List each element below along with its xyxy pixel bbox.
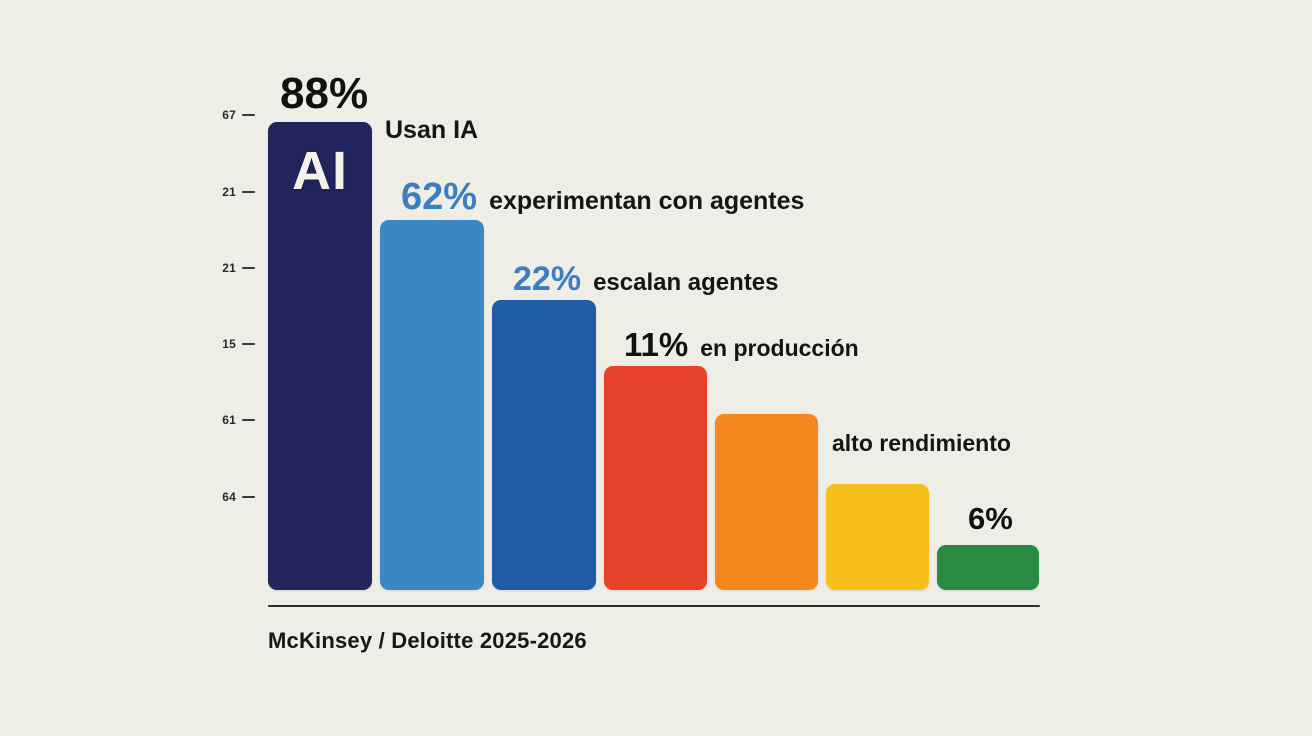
callout-percent: 11%: [624, 328, 688, 361]
callout-percent: 6%: [968, 503, 1013, 534]
y-axis-tick-dash: [242, 114, 255, 116]
callout-usan-ia: 88%: [280, 72, 368, 116]
y-axis-tick-label: 21: [222, 262, 236, 274]
bar-6[interactable]: [826, 484, 929, 590]
y-axis-tick-dash: [242, 191, 255, 193]
callout-description: escalan agentes: [593, 271, 778, 295]
bar-4[interactable]: [604, 366, 707, 590]
y-axis-tick: 21: [205, 261, 255, 275]
y-axis-tick-label: 21: [222, 186, 236, 198]
callout-percent: 22%: [513, 262, 581, 296]
callout-produccion: 11%en producción: [624, 328, 859, 361]
callout-description: experimentan con agentes: [489, 189, 804, 214]
y-axis-tick-label: 15: [222, 338, 236, 350]
callout-usan-ia-desc: Usan IA: [385, 118, 478, 143]
y-axis-tick-dash: [242, 267, 255, 269]
bar-3[interactable]: [492, 300, 596, 590]
bar-7[interactable]: [937, 545, 1039, 590]
callout-description: Usan IA: [385, 118, 478, 143]
bar-2[interactable]: [380, 220, 484, 590]
callout-description: en producción: [700, 337, 858, 360]
chart-canvas: 672121156164 AI 88%Usan IA62%experimenta…: [0, 0, 1312, 736]
y-axis-tick-dash: [242, 419, 255, 421]
y-axis-tick: 64: [205, 490, 255, 504]
y-axis-tick-dash: [242, 496, 255, 498]
y-axis-tick-label: 64: [222, 491, 236, 503]
y-axis-tick: 61: [205, 413, 255, 427]
y-axis-tick-label: 67: [222, 109, 236, 121]
source-note: McKinsey / Deloitte 2025-2026: [268, 628, 587, 654]
y-axis-tick-dash: [242, 343, 255, 345]
callout-description: alto rendimiento: [832, 432, 1011, 455]
axis-baseline: [268, 605, 1040, 607]
callout-percent: 62%: [401, 178, 477, 216]
callout-seis: 6%: [968, 503, 1013, 534]
callout-percent: 88%: [280, 72, 368, 116]
y-axis-tick: 67: [205, 108, 255, 122]
callout-experimentan: 62%experimentan con agentes: [401, 178, 804, 216]
bar-inner-label: AI: [268, 144, 372, 198]
y-axis-tick-label: 61: [222, 414, 236, 426]
callout-escalan: 22%escalan agentes: [513, 262, 779, 296]
bar-1[interactable]: AI: [268, 122, 372, 590]
y-axis-tick: 15: [205, 337, 255, 351]
bar-5[interactable]: [715, 414, 818, 590]
callout-rendimiento: alto rendimiento: [832, 432, 1011, 455]
y-axis-tick: 21: [205, 185, 255, 199]
